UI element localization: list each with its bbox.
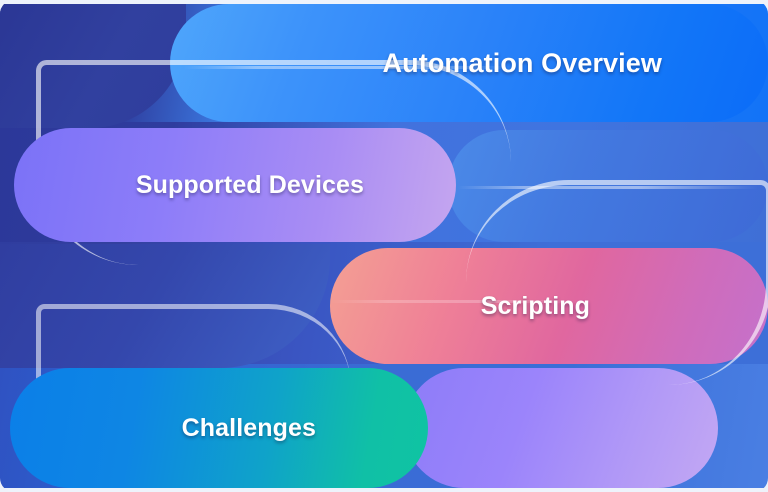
pill-label-challenges: Challenges: [182, 414, 316, 443]
backdrop-pill-challenges: [404, 368, 718, 488]
pill-scripting[interactable]: Scripting: [330, 248, 768, 364]
pill-label-scripting: Scripting: [481, 292, 590, 321]
pill-challenges[interactable]: Challenges: [10, 368, 428, 488]
decorative-highlight-sweep-2: [458, 186, 758, 189]
pill-label-supported-devices: Supported Devices: [136, 171, 364, 200]
pill-label-automation-overview: Automation Overview: [383, 48, 662, 79]
pill-automation-overview[interactable]: Automation Overview: [170, 4, 768, 122]
pill-supported-devices[interactable]: Supported Devices: [14, 128, 456, 242]
infographic-canvas: Automation Overview Supported Devices Sc…: [0, 0, 768, 492]
